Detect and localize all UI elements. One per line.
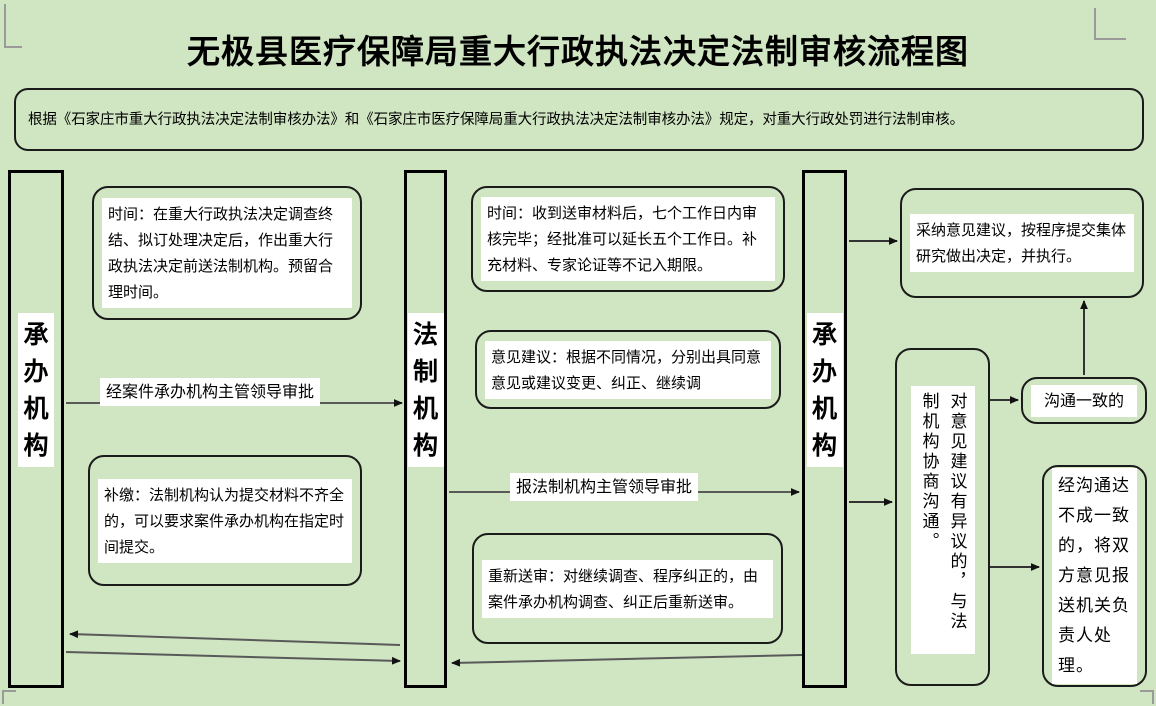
page-title: 无极县医疗保障局重大行政执法决定法制审核流程图 xyxy=(0,32,1156,72)
note-consensus-reached: 沟通一致的 xyxy=(1021,377,1147,424)
note-timing-submission: 时间：在重大行政执法决定调查终结、拟订处理决定后，作出重大行政执法决定前送法制机… xyxy=(92,186,362,320)
note-supplement-materials: 补缴：法制机构认为提交材料不齐全的，可以要求案件承办机构在指定时间提交。 xyxy=(88,455,362,586)
note-text: 采纳意见建议，按程序提交集体研究做出决定，并执行。 xyxy=(910,214,1134,272)
crop-mark-bottom-right-icon xyxy=(1140,690,1154,704)
connector-label-approval-1: 经案件承办机构主管领导审批 xyxy=(100,378,320,406)
lane-undertaking-agency-right: 承办机构 xyxy=(802,170,847,688)
flowchart-canvas: 无极县医疗保障局重大行政执法决定法制审核流程图 根据《石家庄市重大行政执法决定法… xyxy=(0,0,1156,706)
note-resubmit-for-review: 重新送审：对继续调查、程序纠正的，由案件承办机构调查、纠正后重新送审。 xyxy=(472,533,783,644)
note-dispute-consultation: 对意见建议有异议的，与法制机构协商沟通。 xyxy=(895,348,990,686)
note-text: 补缴：法制机构认为提交材料不齐全的，可以要求案件承办机构在指定时间提交。 xyxy=(98,479,352,563)
lane-label: 承办机构 xyxy=(18,313,54,467)
lane-legal-affairs-agency: 法制机构 xyxy=(404,170,447,688)
note-text: 重新送审：对继续调查、程序纠正的，由案件承办机构调查、纠正后重新送审。 xyxy=(482,560,773,618)
note-text: 沟通一致的 xyxy=(1031,385,1137,417)
note-timing-review: 时间：收到送审材料后，七个工作日内审核完毕；经批准可以延长五个工作日。补充材料、… xyxy=(471,186,785,292)
note-text: 意见建议：根据不同情况，分别出具同意意见或建议变更、纠正、继续调 xyxy=(485,341,771,399)
note-no-consensus: 经沟通达不成一致的，将双方意见报送机关负责人处理。 xyxy=(1042,465,1147,687)
note-review-opinion: 意见建议：根据不同情况，分别出具同意意见或建议变更、纠正、继续调 xyxy=(475,330,781,409)
crop-mark-bottom-left-icon xyxy=(2,690,16,704)
note-text: 对意见建议有异议的，与法制机构协商沟通。 xyxy=(911,386,975,654)
legal-basis-text: 根据《石家庄市重大行政执法决定法制审核办法》和《石家庄市医疗保障局重大行政执法决… xyxy=(22,110,1136,130)
note-text: 时间：在重大行政执法决定调查终结、拟订处理决定后，作出重大行政执法决定前送法制机… xyxy=(102,198,352,308)
legal-basis-box: 根据《石家庄市重大行政执法决定法制审核办法》和《石家庄市医疗保障局重大行政执法决… xyxy=(14,88,1144,151)
lane-label: 法制机构 xyxy=(408,313,444,467)
lane-label: 承办机构 xyxy=(807,313,843,467)
connector-label-approval-2: 报法制机构主管领导审批 xyxy=(510,473,698,501)
lane-undertaking-agency-left: 承办机构 xyxy=(8,170,64,688)
note-adopt-opinion: 采纳意见建议，按程序提交集体研究做出决定，并执行。 xyxy=(900,188,1144,298)
note-text: 经沟通达不成一致的，将双方意见报送机关负责人处理。 xyxy=(1052,468,1137,684)
note-text: 时间：收到送审材料后，七个工作日内审核完毕；经批准可以延长五个工作日。补充材料、… xyxy=(481,197,775,281)
